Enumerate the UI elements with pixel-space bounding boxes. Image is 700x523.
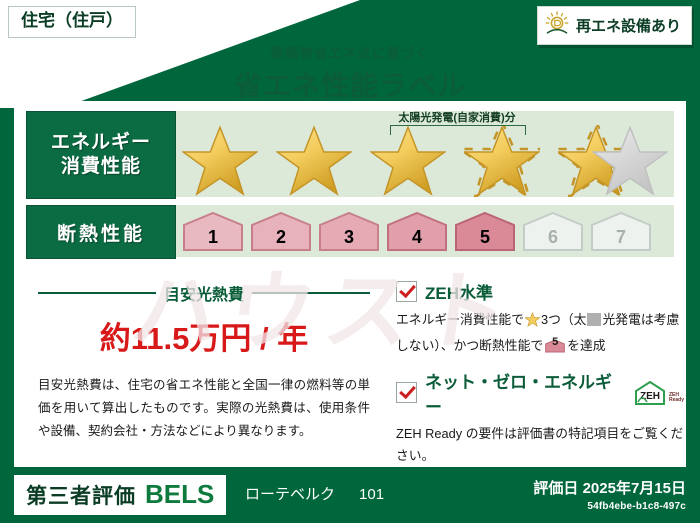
star-1 [182,125,258,197]
solar-sun-icon [544,11,570,41]
utility-cost-block: 目安光熱費 約11.5万円 / 年 目安光熱費は、住宅の省エネ性能と全国一律の燃… [38,281,370,443]
zeh-netzero-checkbox[interactable] [396,382,417,403]
insulation-level-3: 3 [318,211,380,252]
energy-performance-row: エネルギー 消費性能 太陽光発電(自家消費)分 [26,111,674,199]
insulation-level-6: 6 [522,211,584,252]
energy-performance-label: 住宅（住戸） 再エネ設備あり 建築物省エネ法に基づく 省エネ性 [0,0,700,523]
heading-rule-left [38,292,156,294]
building-info: ローテベルク 101 [245,483,384,504]
building-type-badge: 住宅（住戸） [8,6,136,38]
zeh-standard-checkbox[interactable] [396,281,417,302]
solar-bracket-line [390,125,526,135]
energy-label-line1: エネルギー [51,131,151,155]
level-value-1: 1 [208,227,218,248]
star-3 [370,125,446,197]
title-subtitle: 建築物省エネ法に基づく [0,42,700,62]
zeh-body-text-1: エネルギー消費性能で [396,312,524,327]
evaluation-id: 54fb4ebe-b1c8-497c [533,501,686,512]
star-4-solar [464,125,540,197]
svg-text:ZEH: ZEH [640,391,660,402]
utility-cost-heading: 目安光熱費 [164,281,244,305]
renewable-badge-label: 再エネ設備あり [576,15,681,36]
label-title: 建築物省エネ法に基づく 省エネ性能ラベル [0,42,700,104]
heading-rule-right [252,292,370,294]
level-value-6: 6 [548,227,558,248]
unit-number: 101 [359,486,384,503]
zeh-body-text-4: を達成 [567,338,605,353]
level-value-2: 2 [276,227,286,248]
insulation-performance-row: 断熱性能 1 2 3 4 5 6 7 [26,205,674,259]
insulation-grade-field: 1 2 3 4 5 6 7 [176,205,674,257]
star-6-empty [592,125,668,197]
zeh-standard-title: ZEH水準 [425,279,493,304]
zeh-standard-body: エネルギー消費性能で3つ（太光発電は考慮しない）、かつ断熱性能で5を達成 [396,309,684,358]
insulation-level-7: 7 [590,211,652,252]
energy-label-line2: 消費性能 [61,155,141,179]
label-card: ハウスト エネルギー 消費性能 太陽光発電(自家消費)分 [14,101,686,467]
zeh-item-net-zero: ネット・ゼロ・エネルギー ZEH ZEH Ready ZEH Ready [396,368,684,469]
inline-house-badge-icon: 5 [545,338,565,354]
title-main: 省エネ性能ラベル [0,64,700,104]
label-footer: 第三者評価 BELS ローテベルク 101 評価日 2025年7月15日 54f… [0,467,700,523]
evaluation-info: 評価日 2025年7月15日 54fb4ebe-b1c8-497c [533,477,686,512]
zeh-netzero-title: ネット・ゼロ・エネルギー [425,368,620,418]
zeh-netzero-body: ZEH Ready の要件は評価書の特記項目をご覧ください。 [396,423,684,469]
zeh-block: ZEH水準 エネルギー消費性能で3つ（太光発電は考慮しない）、かつ断熱性能で5を… [396,279,684,478]
insulation-label-box: 断熱性能 [26,205,176,259]
bels-badge: 第三者評価 BELS [14,475,226,515]
bels-en-label: BELS [145,479,214,510]
star-2 [276,125,352,197]
inline-star-icon [525,312,540,335]
solar-bracket-label: 太陽光発電(自家消費)分 [364,109,550,125]
utility-cost-value: 約11.5万円 / 年 [38,313,370,358]
zeh-body-text-2: 3つ（太 [541,312,587,327]
energy-performance-label-box: エネルギー 消費性能 [26,111,176,199]
evaluation-date-line: 評価日 2025年7月15日 [533,477,686,498]
evaluation-date-label: 評価日 [533,480,578,497]
renewable-energy-badge: 再エネ設備あり [537,6,692,45]
level-value-5: 5 [480,227,490,248]
insulation-level-1: 1 [182,211,244,252]
utility-cost-note: 目安光熱費は、住宅の省エネ性能と全国一律の燃料等の単価を用いて算出したものです。… [38,374,370,443]
level-value-4: 4 [412,227,422,248]
zeh-house-icon: ZEH [633,380,667,406]
insulation-level-5: 5 [454,211,516,252]
zeh-item-standard: ZEH水準 エネルギー消費性能で3つ（太光発電は考慮しない）、かつ断熱性能で5を… [396,279,684,358]
evaluation-date-value: 2025年7月15日 [583,480,686,497]
building-name: ローテベルク [245,483,335,504]
insulation-level-4: 4 [386,211,448,252]
zeh-logo: ZEH ZEH Ready [633,380,684,406]
level-value-7: 7 [616,227,626,248]
level-value-3: 3 [344,227,354,248]
solar-bracket: 太陽光発電(自家消費)分 [390,109,524,133]
utility-cost-heading-row: 目安光熱費 [38,281,370,305]
bels-jp-label: 第三者評価 [26,480,136,510]
insulation-level-2: 2 [250,211,312,252]
zeh-netzero-head: ネット・ゼロ・エネルギー ZEH ZEH Ready [396,368,684,418]
zeh-standard-head: ZEH水準 [396,279,684,304]
inline-house-value: 5 [545,338,565,354]
star-rating-field: 太陽光発電(自家消費)分 [176,111,674,197]
zeh-logo-sub: ZEH Ready [669,393,684,406]
zeh-logo-sub2: Ready [669,397,684,403]
redaction-box [587,313,601,326]
